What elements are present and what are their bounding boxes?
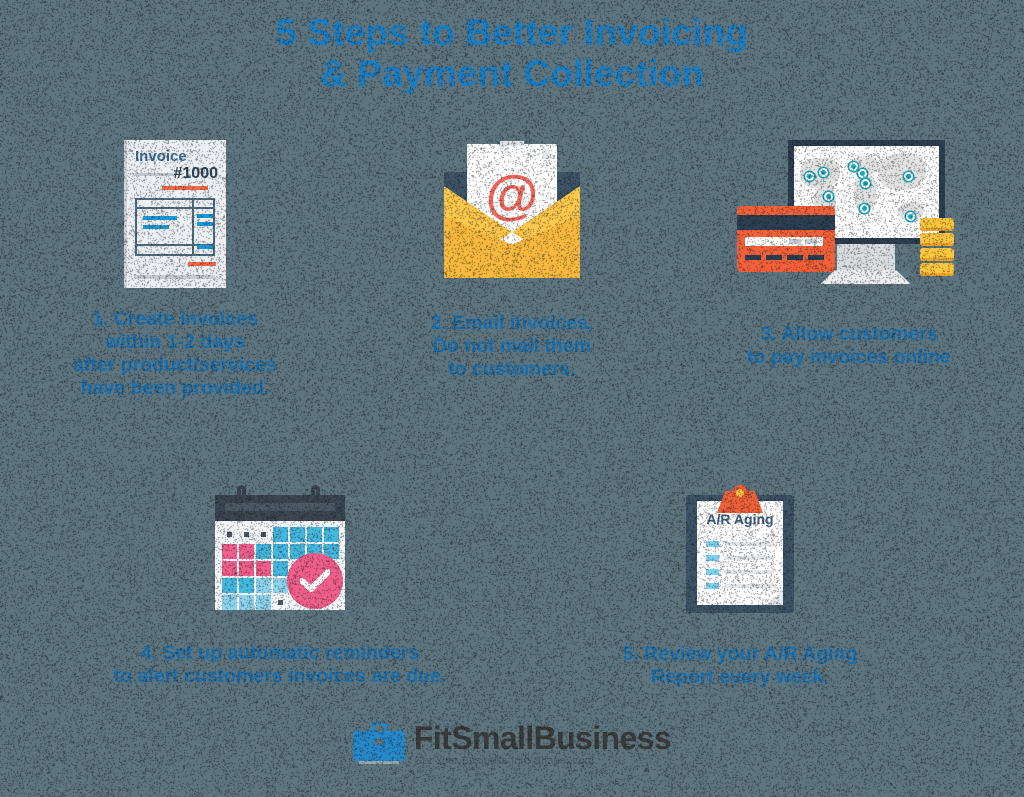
step-5-caption: 5. Review your A/R Aging Report every we… [520,643,960,689]
check-icon [300,569,330,593]
map-pin-icon [805,172,814,181]
letter-folded-corner [542,144,557,159]
map-pin-icon [849,162,858,171]
invoice-table-header-row [137,200,213,209]
map-pin-icon [906,212,915,221]
step-5: A/R Aging 5. Review your A/R Aging Repor… [520,485,960,689]
map-pin-icon [860,204,869,213]
brand-tagline: Get Your Business Into Shape .com [414,755,671,767]
brand-logo[interactable]: FitSmallBusiness Get Your Business Into … [0,722,1024,767]
paper-folded-corner [767,589,783,605]
title-line-2: & Payment Collection [0,53,1024,94]
clipboard-knob [732,485,748,501]
step-2: @ 2. Email invoices, Do not mail them to… [350,140,674,381]
card-number-row [745,255,825,260]
clipboard-report-icon: A/R Aging [686,485,794,613]
map-pin-icon [858,169,867,178]
map-landmass [878,154,926,190]
calendar-header [215,495,345,521]
invoice-grey-line [135,173,173,176]
envelope-tab [500,141,524,146]
map-pin-icon [861,179,870,188]
card-signature-bar [745,237,823,246]
invoice-line-item [143,216,177,220]
invoice-total-amount [197,245,213,249]
card-magnetic-stripe [737,215,835,230]
invoice-heading: Invoice [135,148,187,165]
invoice-orange-underline [162,186,208,190]
step-4-caption: 4. Set up automatic reminders to alert c… [40,642,520,688]
invoice-line-item [143,225,169,229]
map-pin-icon [904,172,913,181]
map-pin-icon [819,168,828,177]
open-envelope-email-icon: @ [437,140,587,290]
monitor-neck [837,244,895,270]
step-4: 4. Set up automatic reminders to alert c… [40,485,520,688]
clipboard-title: A/R Aging [697,511,783,527]
invoice-amount-line [197,214,213,218]
monitor-credit-card-coins-icon [737,140,962,295]
invoice-amount-line [197,222,213,226]
invoice-table [135,198,215,256]
monitor-base [821,270,911,284]
calendar-body [215,521,345,610]
clipboard-paper: A/R Aging [697,501,783,605]
invoice-orange-footer-line [188,262,216,266]
brand-name: FitSmallBusiness [414,722,671,754]
briefcase-icon [353,723,405,767]
invoice-grey-footer-line [135,275,215,279]
step-3-caption: 3. Allow customers to pay invoices onlin… [674,323,1024,369]
invoice-number: #1000 [174,165,219,183]
page-title: 5 Steps to Better Invoicing & Payment Co… [0,12,1024,94]
invoice-document-icon: Invoice #1000 [124,140,226,288]
title-line-1: 5 Steps to Better Invoicing [0,12,1024,53]
calendar-check-badge [287,553,343,609]
step-1-caption: 1. Create invoices within 1-2 days after… [0,308,350,400]
credit-card-icon [737,206,835,272]
calendar-header-bar [225,503,335,511]
step-2-caption: 2. Email invoices, Do not mail them to c… [350,312,674,381]
step-1: Invoice #1000 1. Create invoices within … [0,140,350,400]
coin-stack-icon [920,218,954,274]
step-3: 3. Allow customers to pay invoices onlin… [674,140,1024,369]
map-pin-icon [824,192,833,201]
brand-text: FitSmallBusiness Get Your Business Into … [414,722,671,767]
infographic-page: 5 Steps to Better Invoicing & Payment Co… [0,0,1024,797]
calendar-reminder-icon [215,485,345,610]
